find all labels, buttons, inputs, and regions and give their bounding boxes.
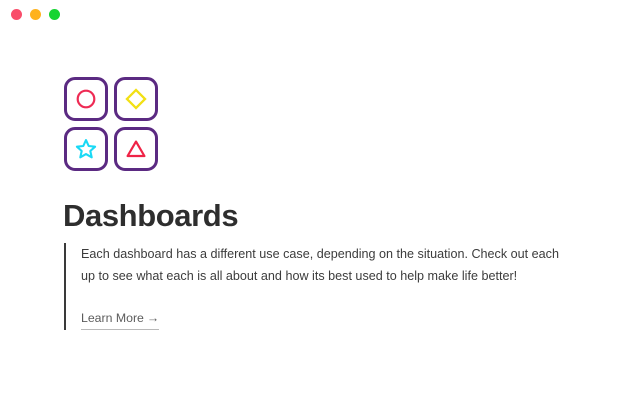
arrow-right-icon: →: [147, 311, 159, 325]
dashboards-icon-grid: [64, 77, 158, 171]
star-icon: [74, 137, 98, 161]
learn-more-label: Learn More: [81, 311, 144, 325]
hero-description: Each dashboard has a different use case,…: [81, 243, 574, 287]
icon-tile-circle: [64, 77, 108, 121]
page-title: Dashboards: [63, 198, 238, 234]
app-window: Dashboards Each dashboard has a differen…: [0, 0, 640, 400]
circle-icon: [75, 88, 97, 110]
minimize-window-button[interactable]: [30, 9, 41, 20]
icon-tile-triangle: [114, 127, 158, 171]
hero-description-block: Each dashboard has a different use case,…: [64, 243, 574, 330]
icon-tile-star: [64, 127, 108, 171]
window-titlebar: [0, 0, 640, 28]
learn-more-link[interactable]: Learn More→: [81, 310, 159, 330]
maximize-window-button[interactable]: [49, 9, 60, 20]
icon-tile-diamond: [114, 77, 158, 121]
section-headings-row: L-CTRL Exclusives Be Intentional🎯 Gamify…: [0, 372, 640, 400]
close-window-button[interactable]: [11, 9, 22, 20]
diamond-icon: [124, 87, 148, 111]
triangle-icon: [124, 138, 148, 160]
